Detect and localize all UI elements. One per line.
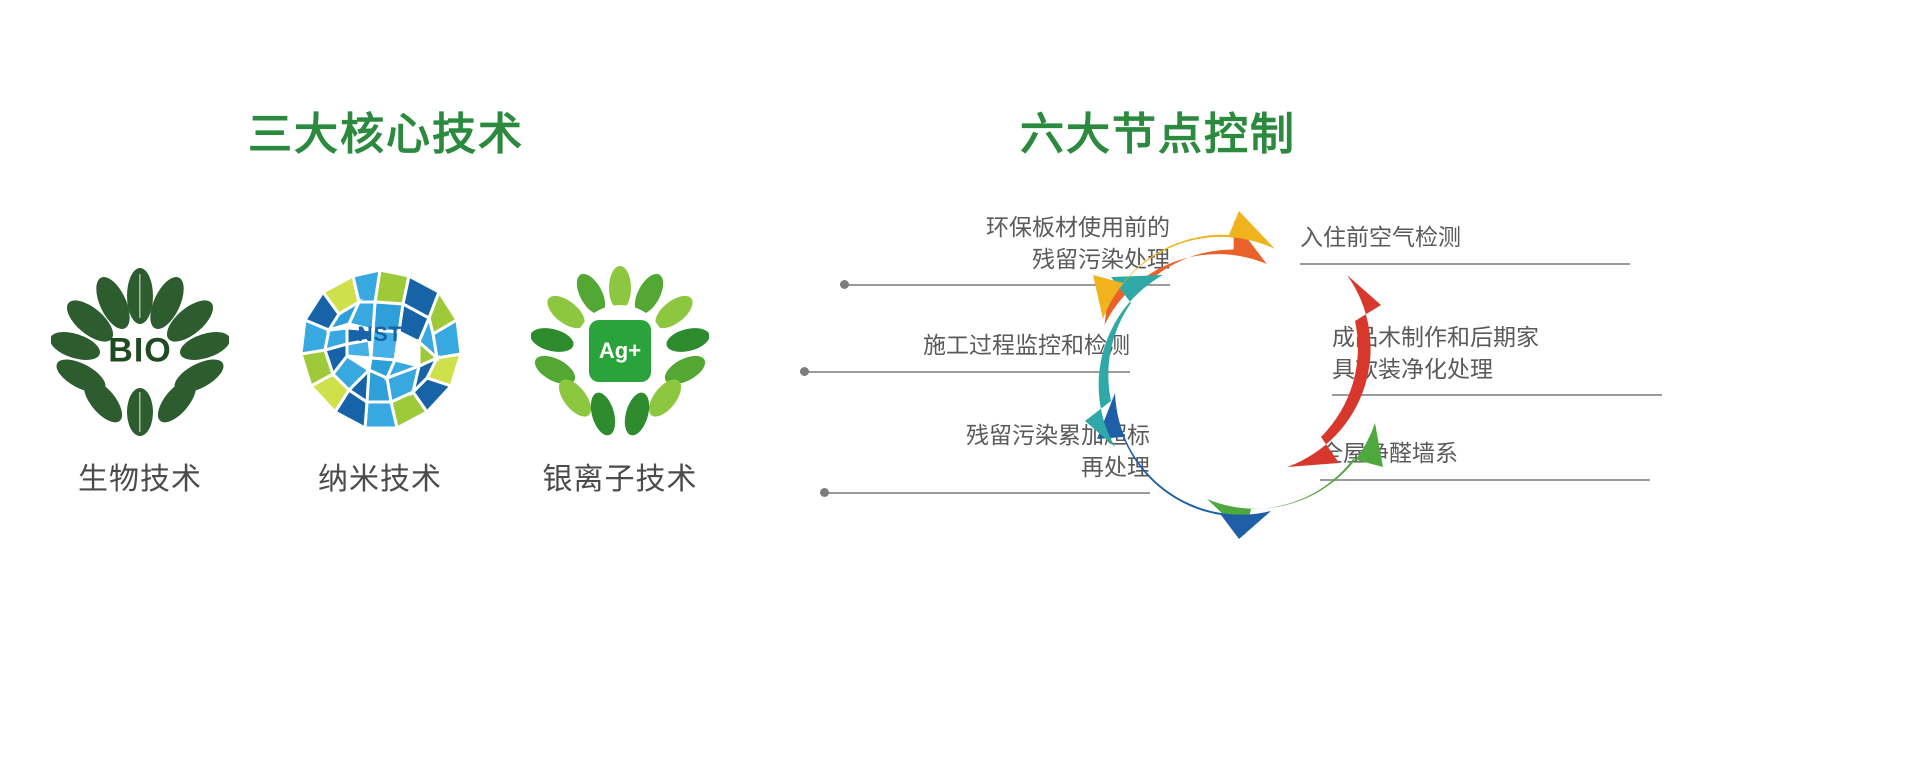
- technology-item-bio: BIO 生物技术: [30, 262, 250, 498]
- yellow-arrow-segment: [1093, 211, 1275, 319]
- technology-label-nst: 纳米技术: [318, 454, 442, 498]
- nst-mosaic-logo-icon: NST: [291, 262, 469, 440]
- silver-ion-logo-text: Ag+: [589, 320, 651, 382]
- six-arrow-cycle-icon: [1070, 210, 1400, 540]
- infographic-canvas: 三大核心技术: [0, 0, 1920, 784]
- bio-leaf-logo-icon: BIO: [51, 262, 229, 440]
- right-panel-title: 六大节点控制: [1020, 98, 1296, 162]
- technology-list: BIO 生物技术: [30, 262, 730, 498]
- technology-label-bio: 生物技术: [78, 454, 202, 498]
- technology-label-silver-ion: 银离子技术: [543, 454, 698, 498]
- nst-logo-text: NST: [291, 323, 469, 347]
- left-panel-title: 三大核心技术: [248, 98, 524, 162]
- six-node-control-panel: 六大节点控制 环保板材使用前的 残留污染处理 施工过程监控和检测 残留污染累加超…: [780, 0, 1920, 784]
- bio-logo-text: BIO: [51, 332, 229, 371]
- core-technologies-panel: 三大核心技术: [0, 0, 780, 784]
- technology-item-nst: NST 纳米技术: [270, 262, 490, 498]
- technology-item-silver-ion: Ag+ 银离子技术: [510, 262, 730, 498]
- silver-ion-leaf-logo-icon: Ag+: [531, 262, 709, 440]
- teal-arrow-segment: [1085, 275, 1163, 447]
